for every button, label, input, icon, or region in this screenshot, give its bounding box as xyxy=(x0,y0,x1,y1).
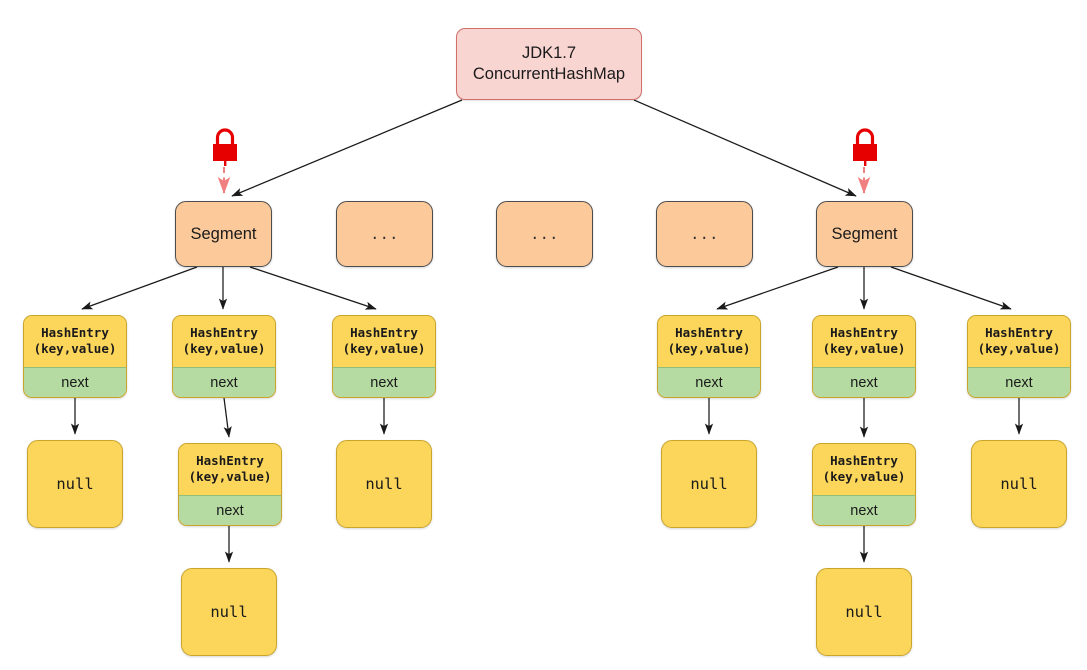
root-node: JDK1.7 ConcurrentHashMap xyxy=(456,28,642,100)
edge-segl-to-he3 xyxy=(250,267,376,309)
next-label: next xyxy=(216,503,243,519)
null-label: null xyxy=(56,475,93,493)
diagram-canvas: JDK1.7 ConcurrentHashMap Segment ... ...… xyxy=(0,0,1087,670)
null-node-c4: null xyxy=(661,440,757,528)
hashentry-next-field[interactable]: next xyxy=(333,367,435,397)
hashentry-next-field[interactable]: next xyxy=(813,495,915,525)
lock-icon xyxy=(849,126,881,168)
hashentry-kv: (key,value) xyxy=(978,341,1061,358)
null-label: null xyxy=(365,475,402,493)
hashentry-head: HashEntry (key,value) xyxy=(658,316,760,367)
edge-root-to-segment-left xyxy=(232,100,462,196)
hashentry-node-c6-r1[interactable]: HashEntry (key,value) next xyxy=(967,315,1071,398)
segment-node-ellipsis-2[interactable]: ... xyxy=(496,201,593,267)
hashentry-title: HashEntry xyxy=(190,325,258,342)
hashentry-title: HashEntry xyxy=(985,325,1053,342)
hashentry-next-field[interactable]: next xyxy=(658,367,760,397)
hashentry-head: HashEntry (key,value) xyxy=(173,316,275,367)
hashentry-kv: (key,value) xyxy=(823,469,906,486)
hashentry-kv: (key,value) xyxy=(34,341,117,358)
connector-layer xyxy=(0,0,1087,670)
hashentry-title: HashEntry xyxy=(350,325,418,342)
hashentry-title: HashEntry xyxy=(196,453,264,470)
segment-node-right[interactable]: Segment xyxy=(816,201,913,267)
hashentry-kv: (key,value) xyxy=(343,341,426,358)
segment-label: Segment xyxy=(831,225,897,244)
null-node-c6: null xyxy=(971,440,1067,528)
hashentry-head: HashEntry (key,value) xyxy=(813,316,915,367)
hashentry-node-c2-r1[interactable]: HashEntry (key,value) next xyxy=(172,315,276,398)
segment-node-left[interactable]: Segment xyxy=(175,201,272,267)
next-label: next xyxy=(1005,375,1032,391)
hashentry-head: HashEntry (key,value) xyxy=(333,316,435,367)
hashentry-next-field[interactable]: next xyxy=(173,367,275,397)
hashentry-kv: (key,value) xyxy=(668,341,751,358)
next-label: next xyxy=(210,375,237,391)
hashentry-head: HashEntry (key,value) xyxy=(179,444,281,495)
hashentry-kv: (key,value) xyxy=(183,341,266,358)
hashentry-head: HashEntry (key,value) xyxy=(813,444,915,495)
segment-label: Segment xyxy=(190,225,256,244)
hashentry-next-field[interactable]: next xyxy=(179,495,281,525)
hashentry-title: HashEntry xyxy=(830,325,898,342)
next-label: next xyxy=(370,375,397,391)
edge-segr-to-he6 xyxy=(891,267,1011,309)
edge-he-c2r1-to-he-c2r2 xyxy=(224,398,229,437)
hashentry-node-c3-r1[interactable]: HashEntry (key,value) next xyxy=(332,315,436,398)
hashentry-head: HashEntry (key,value) xyxy=(24,316,126,367)
segment-label: ... xyxy=(370,225,399,243)
edge-segl-to-he1 xyxy=(82,267,197,309)
hashentry-title: HashEntry xyxy=(830,453,898,470)
hashentry-next-field[interactable]: next xyxy=(24,367,126,397)
edge-segr-to-he4 xyxy=(717,267,838,309)
null-label: null xyxy=(845,603,882,621)
hashentry-node-c5-r1[interactable]: HashEntry (key,value) next xyxy=(812,315,916,398)
segment-label: ... xyxy=(530,225,559,243)
null-node-c3: null xyxy=(336,440,432,528)
edge-root-to-segment-right xyxy=(634,100,856,196)
hashentry-node-c4-r1[interactable]: HashEntry (key,value) next xyxy=(657,315,761,398)
lock-icon xyxy=(209,126,241,168)
next-label: next xyxy=(850,375,877,391)
segment-label: ... xyxy=(690,225,719,243)
segment-node-ellipsis-3[interactable]: ... xyxy=(656,201,753,267)
next-label: next xyxy=(61,375,88,391)
hashentry-kv: (key,value) xyxy=(823,341,906,358)
root-title-line2: ConcurrentHashMap xyxy=(473,64,625,85)
null-label: null xyxy=(690,475,727,493)
next-label: next xyxy=(695,375,722,391)
hashentry-node-c2-r2[interactable]: HashEntry (key,value) next xyxy=(178,443,282,526)
null-node-c2: null xyxy=(181,568,277,656)
hashentry-title: HashEntry xyxy=(675,325,743,342)
hashentry-next-field[interactable]: next xyxy=(968,367,1070,397)
hashentry-kv: (key,value) xyxy=(189,469,272,486)
hashentry-node-c5-r2[interactable]: HashEntry (key,value) next xyxy=(812,443,916,526)
null-label: null xyxy=(1000,475,1037,493)
root-title-line1: JDK1.7 xyxy=(473,43,625,64)
null-label: null xyxy=(210,603,247,621)
hashentry-next-field[interactable]: next xyxy=(813,367,915,397)
hashentry-head: HashEntry (key,value) xyxy=(968,316,1070,367)
null-node-c5: null xyxy=(816,568,912,656)
null-node-c1: null xyxy=(27,440,123,528)
segment-node-ellipsis-1[interactable]: ... xyxy=(336,201,433,267)
hashentry-title: HashEntry xyxy=(41,325,109,342)
hashentry-node-c1-r1[interactable]: HashEntry (key,value) next xyxy=(23,315,127,398)
next-label: next xyxy=(850,503,877,519)
